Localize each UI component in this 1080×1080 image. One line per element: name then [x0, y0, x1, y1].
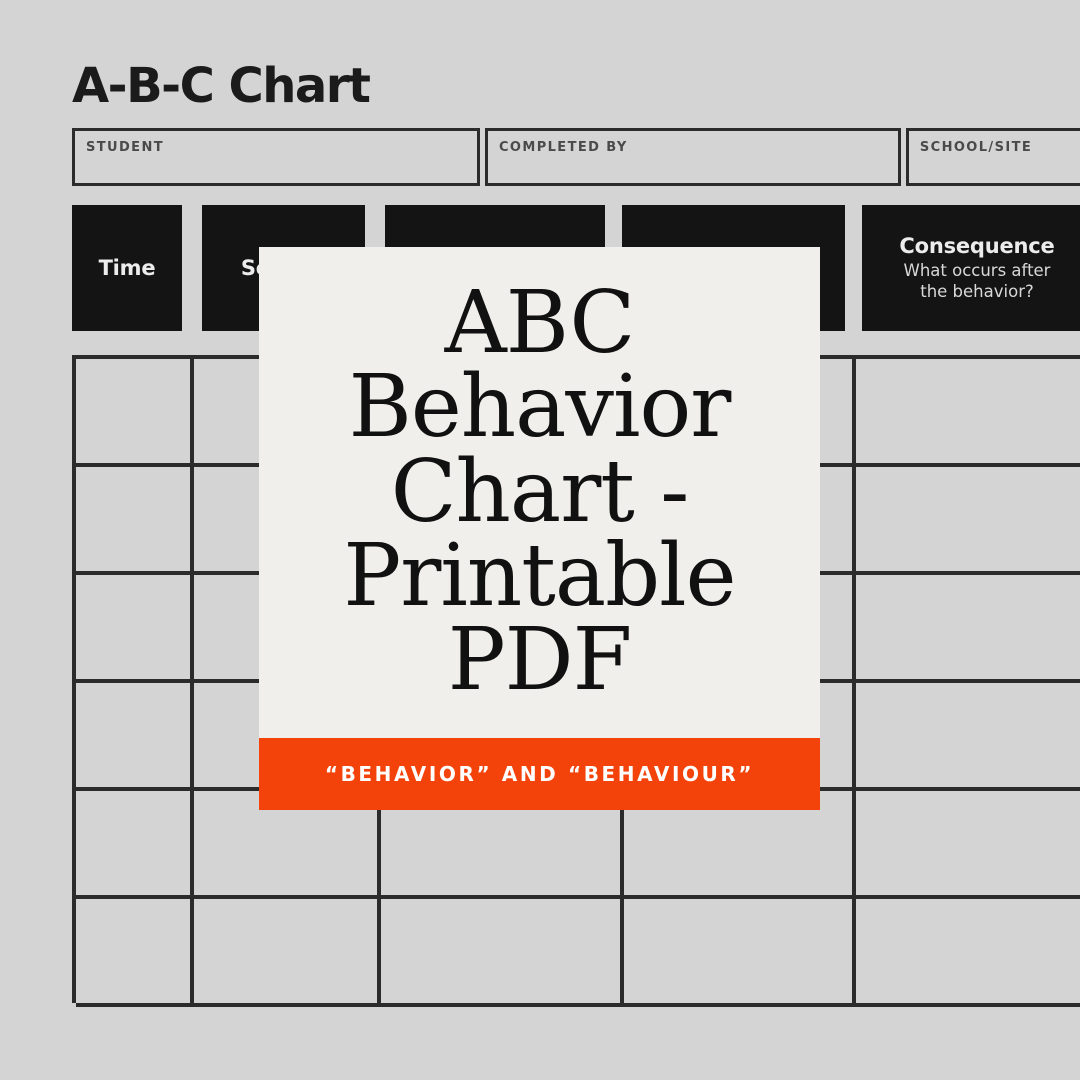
overlay-banner-text: “BEHAVIOR” AND “BEHAVIOUR” [325, 762, 754, 786]
cell-time[interactable] [76, 575, 194, 683]
cell-consequence[interactable] [856, 899, 1080, 1007]
overlay-title-line: Chart - [287, 450, 792, 534]
cell-behavior[interactable] [624, 899, 856, 1007]
school-site-field-label: SCHOOL/SITE [920, 140, 1080, 155]
page-title: A-B-C Chart [72, 62, 369, 110]
column-header-consequence: Consequence What occurs after the behavi… [862, 205, 1080, 331]
cell-consequence[interactable] [856, 359, 1080, 467]
table-row [76, 899, 1080, 1007]
info-field-row: STUDENT COMPLETED BY SCHOOL/SITE [72, 128, 1080, 186]
overlay-title-line: ABC [287, 281, 792, 365]
cell-consequence[interactable] [856, 791, 1080, 899]
column-header-consequence-title: Consequence [899, 234, 1054, 258]
pin-graphic-canvas: A-B-C Chart STUDENT COMPLETED BY SCHOOL/… [0, 0, 1080, 1080]
overlay-title-card: ABC Behavior Chart - Printable PDF “BEHA… [259, 247, 820, 810]
overlay-title-line: PDF [287, 618, 792, 702]
student-field-label: STUDENT [86, 140, 477, 155]
student-field[interactable]: STUDENT [72, 128, 480, 186]
overlay-title-line: Printable [287, 534, 792, 618]
overlay-subtitle-banner: “BEHAVIOR” AND “BEHAVIOUR” [259, 738, 820, 810]
column-header-time: Time [72, 205, 182, 331]
cell-time[interactable] [76, 359, 194, 467]
cell-time[interactable] [76, 899, 194, 1007]
completed-by-field[interactable]: COMPLETED BY [485, 128, 901, 186]
completed-by-field-label: COMPLETED BY [499, 140, 898, 155]
cell-time[interactable] [76, 791, 194, 899]
cell-time[interactable] [76, 467, 194, 575]
cell-antecedent[interactable] [381, 899, 624, 1007]
school-site-field[interactable]: SCHOOL/SITE [906, 128, 1080, 186]
column-header-time-title: Time [99, 256, 156, 280]
overlay-title: ABC Behavior Chart - Printable PDF [259, 247, 820, 738]
cell-setting[interactable] [194, 899, 381, 1007]
overlay-title-line: Behavior [287, 365, 792, 449]
cell-time[interactable] [76, 683, 194, 791]
column-header-consequence-subtitle: What occurs after the behavior? [892, 261, 1062, 302]
cell-consequence[interactable] [856, 683, 1080, 791]
cell-consequence[interactable] [856, 467, 1080, 575]
cell-consequence[interactable] [856, 575, 1080, 683]
